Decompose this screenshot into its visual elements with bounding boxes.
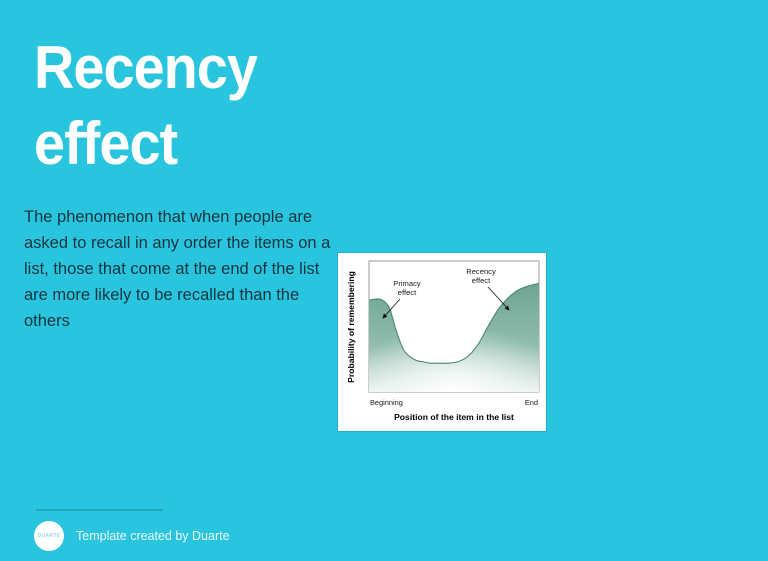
slide-canvas: Recency effect The phenomenon that when …	[0, 0, 768, 561]
annotation-primacy-line-1: Primacy	[393, 279, 421, 288]
page-title-line-2: effect	[34, 106, 341, 182]
body-paragraph: The phenomenon that when people are aske…	[24, 204, 336, 334]
serial-position-chart-card: Primacy effect Recency effect Probabilit…	[338, 253, 546, 431]
x-axis-title: Position of the item in the list	[394, 412, 514, 422]
annotation-recency-line-2: effect	[472, 276, 491, 285]
y-axis-title: Probability of remembering	[346, 271, 356, 383]
serial-position-chart: Primacy effect Recency effect Probabilit…	[338, 253, 546, 431]
page-title-line-1: Recency	[34, 30, 341, 106]
footer-divider	[36, 509, 163, 511]
x-tick-beginning: Beginning	[370, 398, 403, 407]
page-title: Recency effect	[34, 30, 364, 182]
annotation-recency-line-1: Recency	[466, 267, 496, 276]
duarte-logo-label: duarte	[37, 533, 60, 539]
footer-caption: Template created by Duarte	[76, 529, 230, 543]
annotation-primacy-line-2: effect	[398, 288, 417, 297]
x-tick-end: End	[525, 398, 538, 407]
duarte-logo-icon: duarte	[34, 521, 64, 551]
footer: duarte Template created by Duarte	[34, 521, 230, 551]
